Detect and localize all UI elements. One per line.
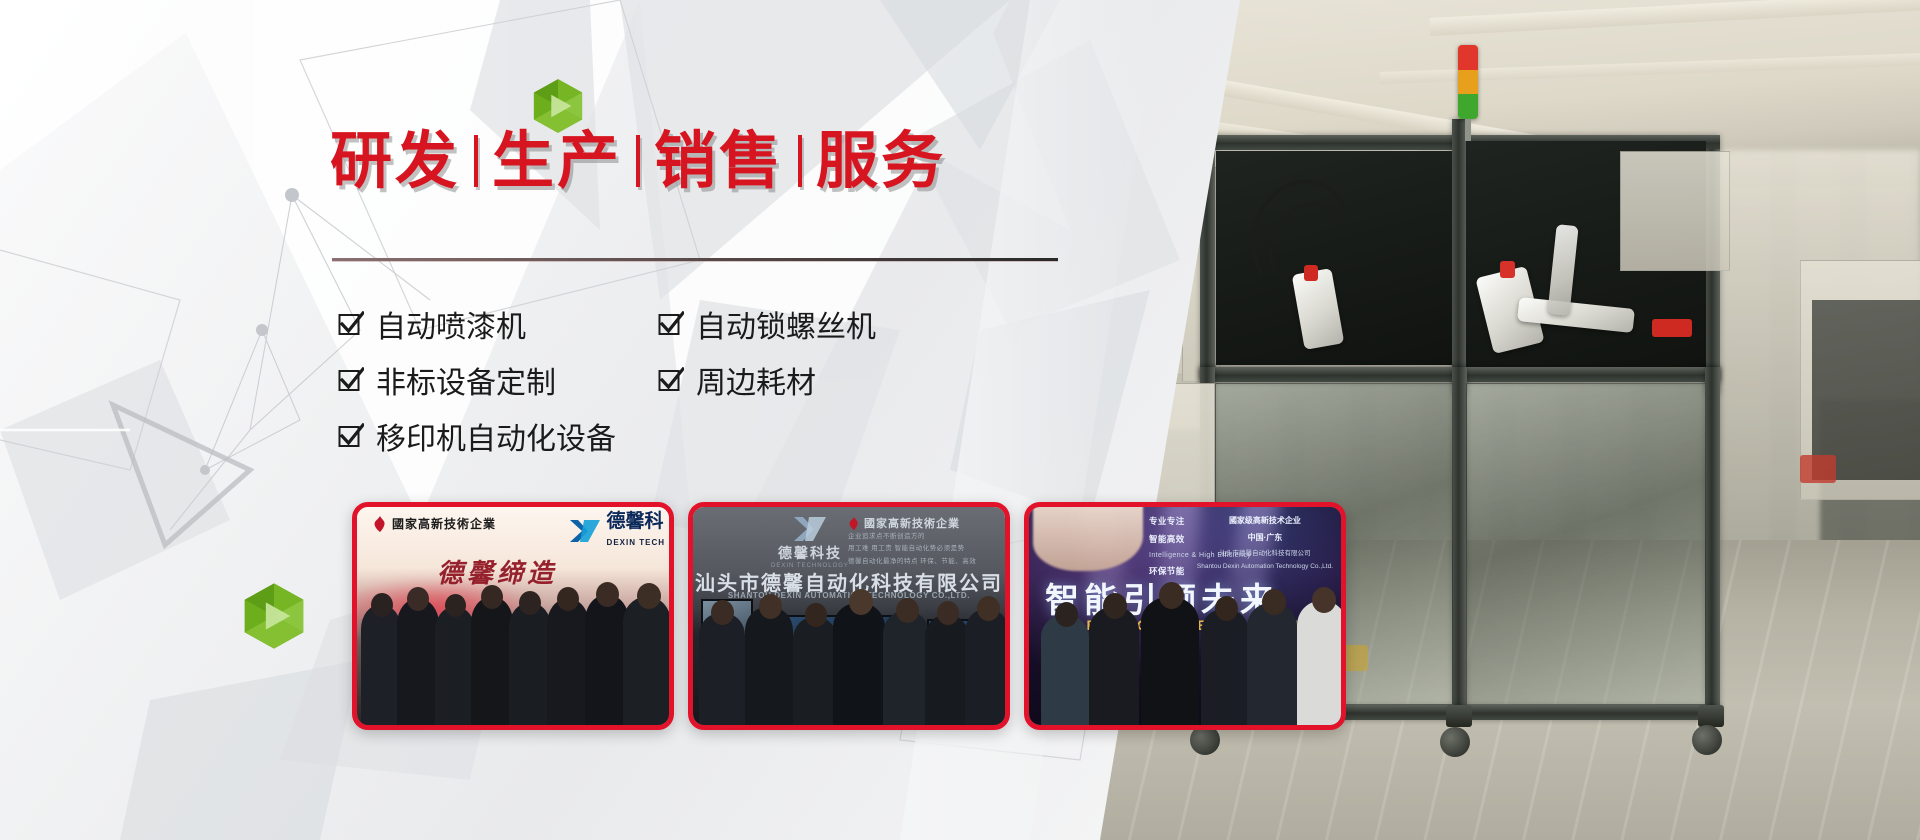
thumbnail-team-photo-intelligent-future[interactable]: 专业专注 智能高效 Intelligence & High Efficiency… [1024, 502, 1346, 730]
photo-thumbnail-gallery: 國家高新技術企業 德馨科 DEXIN TECH [352, 502, 1346, 730]
feature-item: 周边耗材 [658, 352, 1018, 408]
dexin-logo: 德馨科 DEXIN TECH [568, 512, 665, 550]
logo-chinese-text: 德馨科 [607, 510, 664, 532]
badge-label: 國家高新技術企業 [864, 515, 960, 531]
company-name-chinese: 汕头市德馨自动化科技有限公司 [1197, 547, 1333, 561]
logo-english-text: DEXIN TECH [607, 538, 665, 547]
badge-label: 國家高新技術企業 [392, 515, 496, 532]
dexin-x-mark-icon [792, 515, 828, 543]
headline-word-3: 销售 [654, 130, 784, 192]
dexin-x-mark-icon [568, 518, 602, 544]
feature-item: 移印机自动化设备 [338, 408, 1018, 464]
company-region: 中国·广东 [1197, 530, 1333, 547]
checkbox-checked-icon [338, 367, 364, 393]
headline-word-1: 研发 [330, 130, 460, 192]
feature-item: 非标设备定制 [338, 352, 658, 408]
checkbox-checked-icon [338, 423, 364, 449]
booth-company-block: 國家级高新技术企业 中国·广东 汕头市德馨自动化科技有限公司 Shantou D… [1197, 513, 1333, 574]
feature-label: 自动喷漆机 [376, 302, 526, 346]
flame-mark-icon [848, 517, 860, 530]
flame-mark-icon [373, 516, 387, 532]
dexin-logo: 德馨科技 DEXIN TECHNOLOGY [771, 515, 849, 569]
feature-label: 非标设备定制 [376, 358, 556, 402]
company-tag: 國家级高新技术企业 [1197, 513, 1333, 530]
headline-separator [636, 135, 640, 187]
checkbox-checked-icon [658, 311, 684, 337]
high-tech-enterprise-badge: 國家高新技術企業 [373, 515, 496, 532]
feature-label: 周边耗材 [696, 358, 816, 402]
headline-separator [474, 135, 478, 187]
thumbnail-team-photo-exhibition-booth[interactable]: 國家高新技術企業 德馨科 DEXIN TECH [352, 502, 674, 730]
feature-item: 自动锁螺丝机 [658, 296, 1018, 352]
banner-content: 研发 生产 销售 服务 自动喷漆机 [0, 0, 1100, 840]
status-tower-light [1458, 45, 1478, 119]
thumbnail-team-photo-company-wall[interactable]: 德馨科技 DEXIN TECHNOLOGY 國家高新技術企業 企业追求点不断创造… [688, 502, 1010, 730]
checkbox-checked-icon [338, 311, 364, 337]
booth-slogan-block: 國家高新技術企業 企业追求点不断创造方的 用工难 用工贵 智能自动化势必须是势 … [848, 515, 976, 568]
logo-chinese-text: 德馨科技 [778, 543, 842, 563]
headline-word-4: 服务 [816, 130, 946, 192]
checkbox-checked-icon [658, 367, 684, 393]
slogan-line: 企业追求点不断创造方的 [848, 531, 976, 543]
headline-word-2: 生产 [492, 130, 622, 192]
headline-separator [798, 135, 802, 187]
feature-label: 移印机自动化设备 [376, 414, 616, 458]
page-title: 研发 生产 销售 服务 [330, 130, 946, 192]
headline-divider [332, 258, 1058, 261]
feature-list: 自动喷漆机 自动锁螺丝机 非标设备定制 [338, 296, 1038, 464]
slogan-line: 用工难 用工贵 智能自动化势必须是势 [848, 543, 976, 555]
company-name-english: Shantou Dexin Automation Technology Co.,… [1197, 560, 1333, 574]
promotional-banner: 研发 生产 销售 服务 自动喷漆机 [0, 0, 1920, 840]
feature-item: 自动喷漆机 [338, 296, 658, 352]
feature-label: 自动锁螺丝机 [696, 302, 876, 346]
